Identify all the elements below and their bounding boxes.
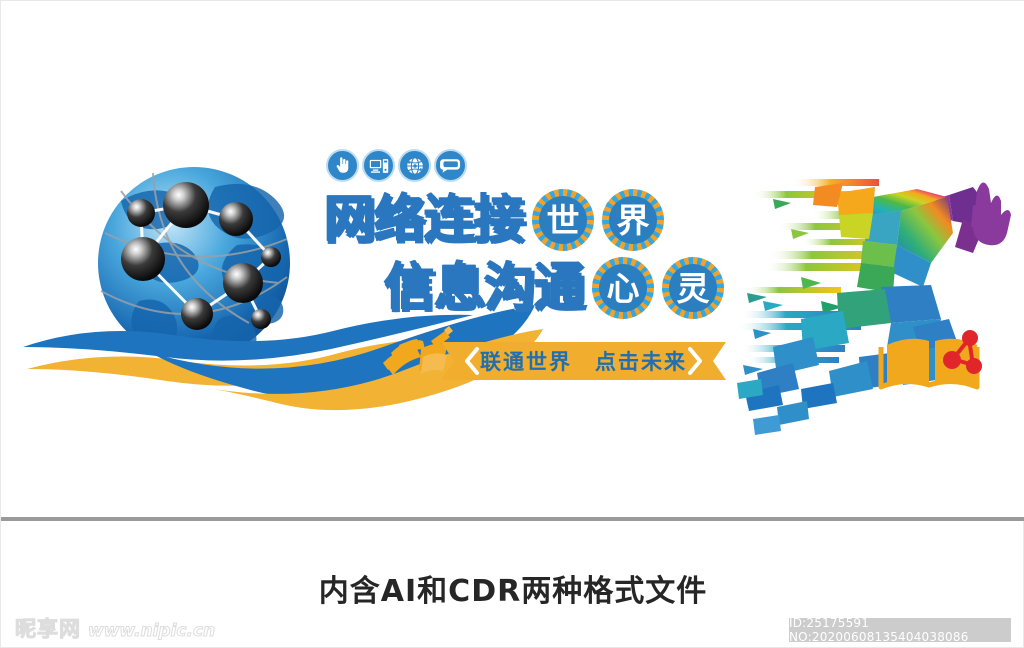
badge-xin: 心 bbox=[592, 257, 654, 319]
feature-icon-row bbox=[326, 149, 467, 182]
speech-bubble-icon bbox=[434, 149, 467, 182]
badge-ling: 灵 bbox=[662, 257, 724, 319]
desktop-computer-icon bbox=[362, 149, 395, 182]
format-caption: 内含AI和CDR两种格式文件 bbox=[1, 566, 1024, 610]
headline-text-1: 网络连接 bbox=[324, 192, 524, 248]
site-watermark: 昵享网 www.nipic.cn bbox=[15, 613, 215, 643]
headline-line-2: 信息沟通 心 灵 bbox=[384, 257, 724, 319]
asset-id-bar: ID:25175591 NO:20200608135404038086 bbox=[789, 618, 1011, 642]
watermark-site-name: 昵享网 bbox=[15, 613, 81, 643]
artwork-canvas: 网络连接 世 界 信息沟通 心 灵 联通世界 点击未来 bbox=[1, 1, 1024, 518]
poster-page: 网络连接 世 界 信息沟通 心 灵 联通世界 点击未来 bbox=[0, 0, 1024, 648]
badge-char-shi: 世 bbox=[547, 204, 580, 237]
headline-text-2: 信息沟通 bbox=[384, 260, 584, 316]
watermark-site-url: www.nipic.cn bbox=[88, 621, 215, 643]
runner-body bbox=[737, 182, 1011, 435]
blue-globe-network bbox=[98, 167, 290, 359]
badge-jie: 界 bbox=[602, 189, 664, 251]
badge-char-xin: 心 bbox=[607, 272, 640, 305]
badge-char-jie: 界 bbox=[617, 204, 650, 237]
badge-shi: 世 bbox=[532, 189, 594, 251]
badge-char-ling: 灵 bbox=[677, 272, 710, 305]
headline-line-1: 网络连接 世 界 bbox=[324, 189, 664, 251]
hand-pointer-icon bbox=[326, 149, 359, 182]
polygonal-running-man bbox=[737, 179, 1011, 435]
slogan-banner: 联通世界 点击未来 bbox=[441, 342, 726, 380]
slogan-text: 联通世界 点击未来 bbox=[441, 342, 726, 380]
section-divider bbox=[1, 517, 1024, 521]
globe-network-icon bbox=[398, 149, 431, 182]
